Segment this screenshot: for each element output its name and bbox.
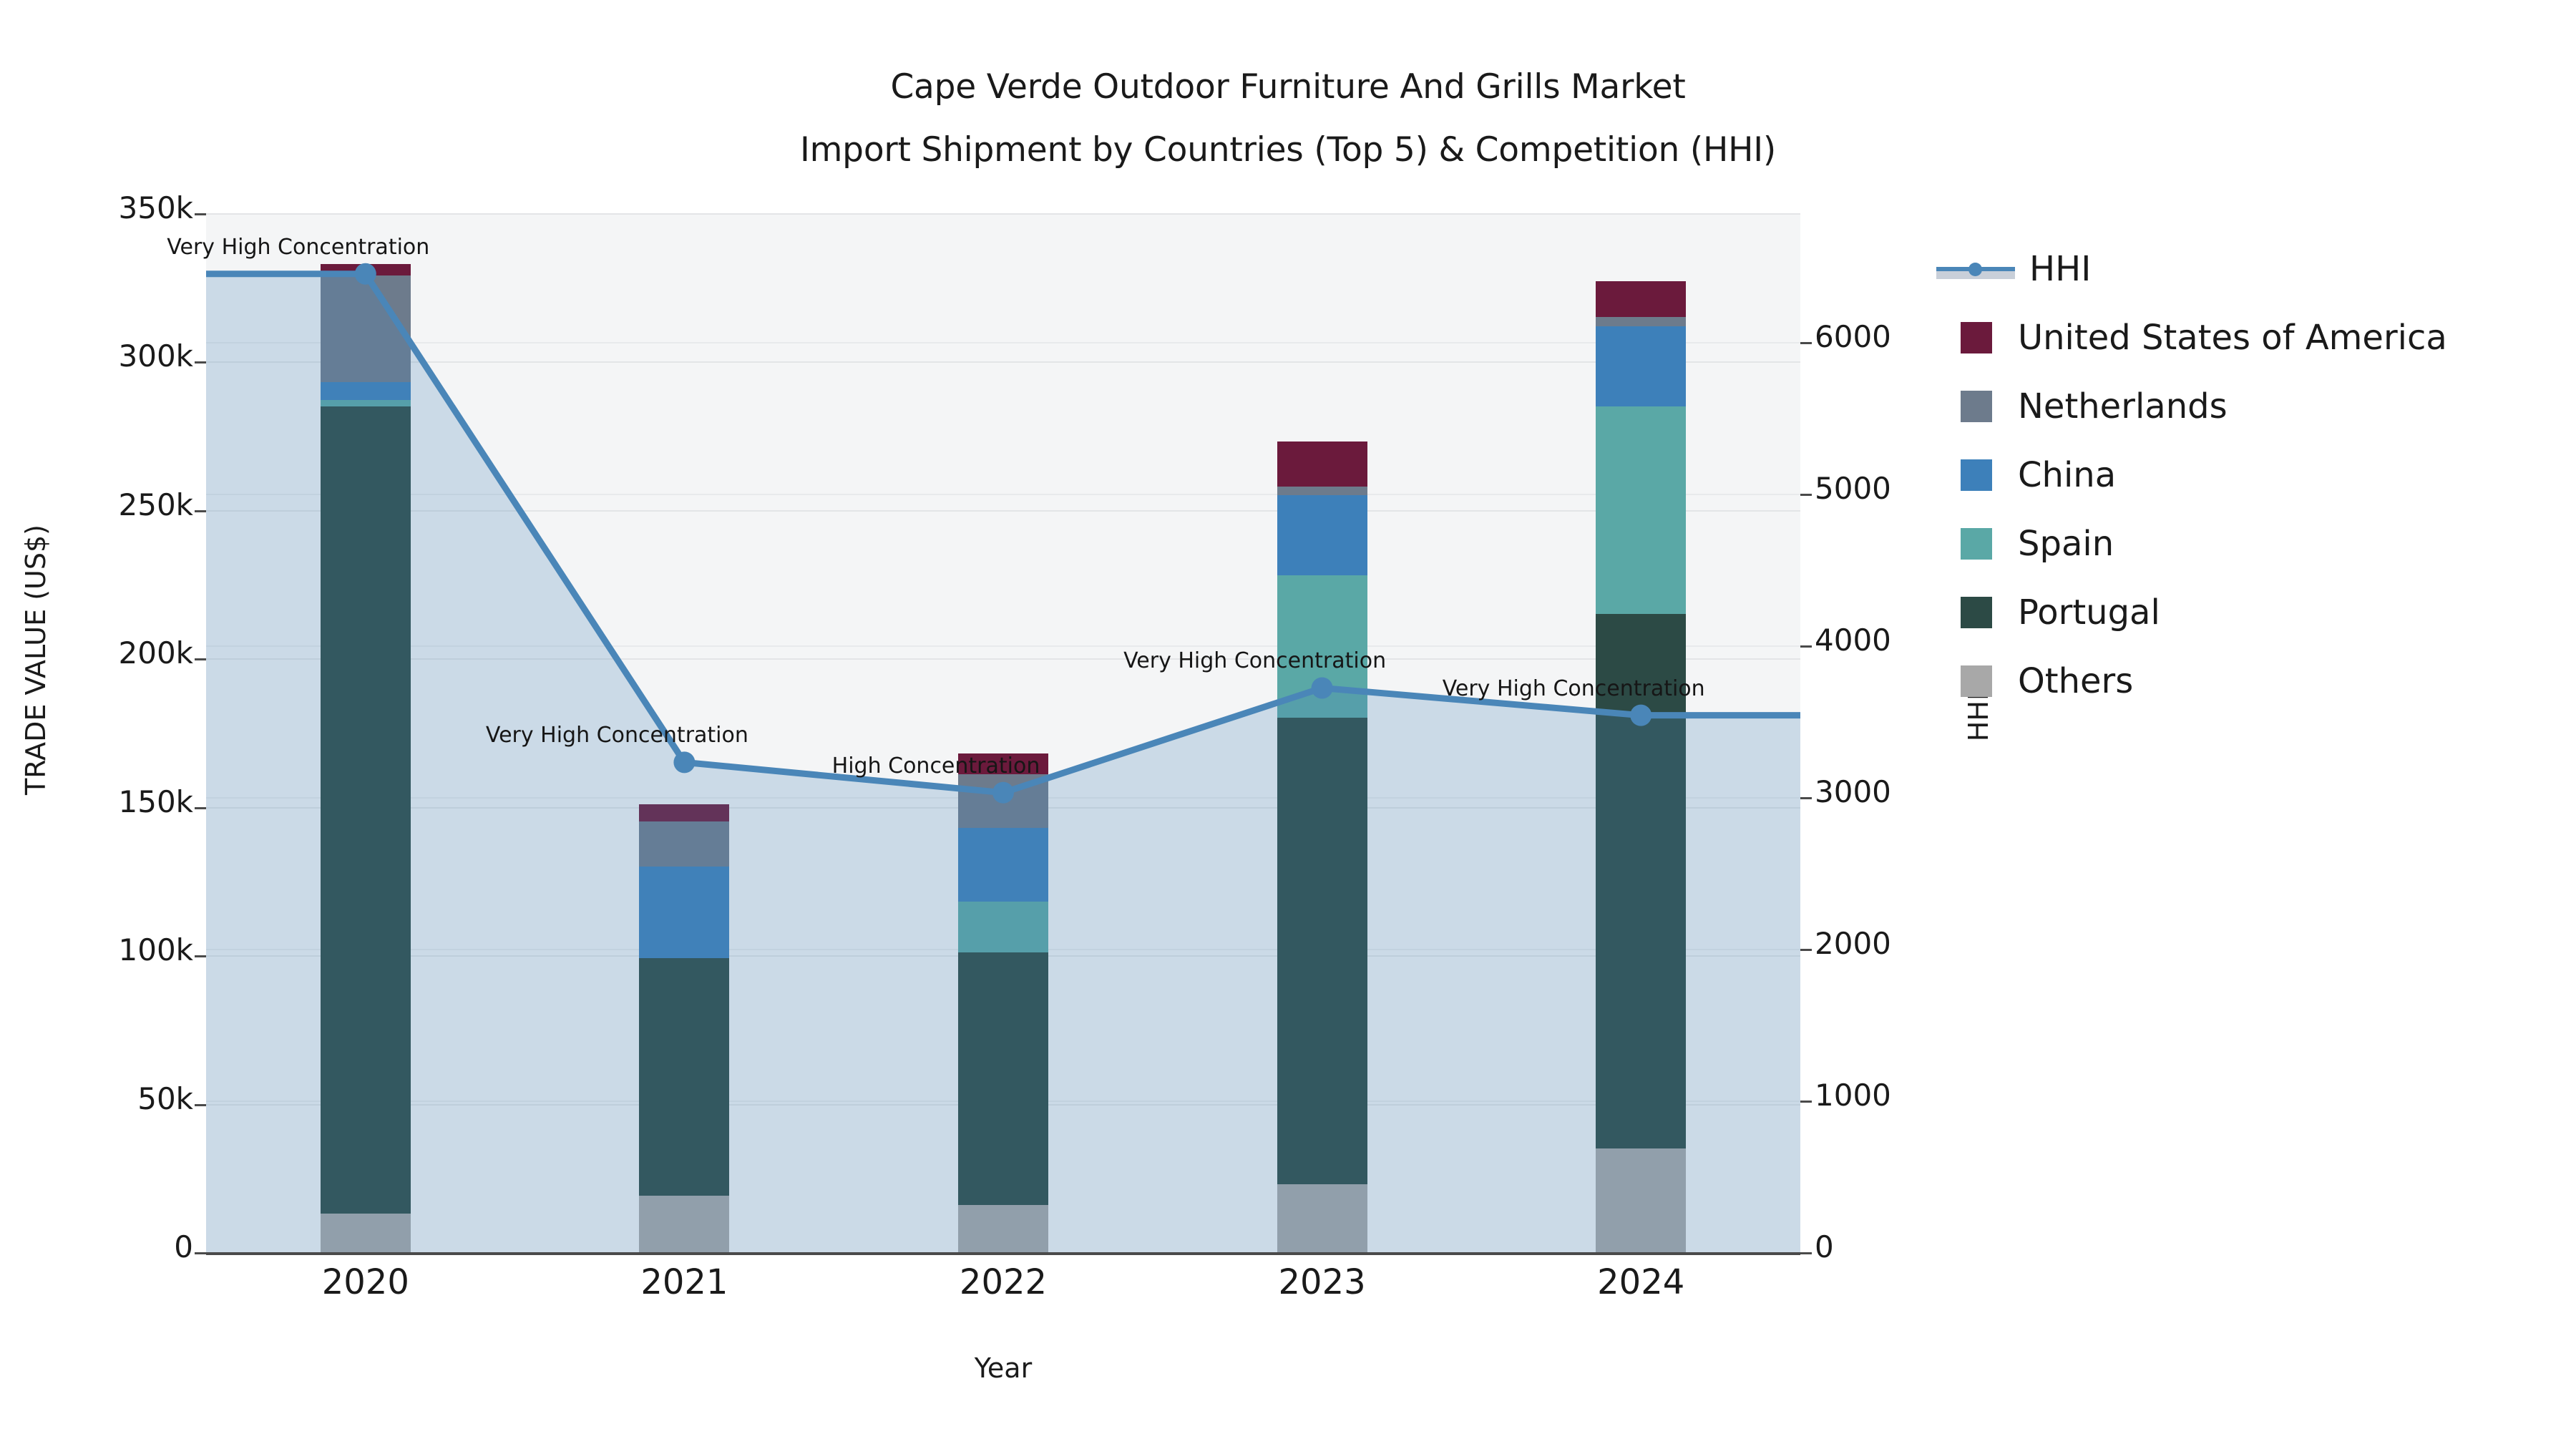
- legend-color-swatch-icon: [1961, 459, 1992, 491]
- y-axis-left-tick-mark: [195, 1252, 206, 1254]
- y-axis-right-tick-label: 6000: [1815, 322, 1972, 352]
- x-axis-tick-label: 2024: [1533, 1265, 1748, 1299]
- chart-title: Cape Verde Outdoor Furniture And Grills …: [0, 56, 2576, 182]
- y-axis-left-tick-mark: [195, 807, 206, 809]
- legend-item-label: Spain: [2018, 527, 2114, 561]
- legend-item[interactable]: Others: [1961, 647, 2533, 716]
- hhi-marker[interactable]: [1630, 705, 1652, 726]
- legend-item-label: China: [2018, 458, 2116, 492]
- legend-item[interactable]: China: [1961, 441, 2533, 509]
- y-axis-right-tick-mark: [1800, 494, 1812, 496]
- legend-item-label: Others: [2018, 664, 2133, 698]
- y-axis-left-tick-mark: [195, 510, 206, 512]
- y-axis-right-tick-mark: [1800, 1101, 1812, 1103]
- y-axis-left-tick-label: 300k: [0, 341, 193, 371]
- concentration-label: Very High Concentration: [1443, 678, 1705, 700]
- legend-item-label: United States of America: [2018, 321, 2447, 355]
- y-axis-right-tick-mark: [1800, 342, 1812, 344]
- legend-item[interactable]: United States of America: [1961, 303, 2533, 372]
- legend-item[interactable]: Spain: [1961, 509, 2533, 578]
- y-axis-right-tick-mark: [1800, 949, 1812, 951]
- x-axis-tick-label: 2021: [577, 1265, 791, 1299]
- y-axis-right-tick-label: 2000: [1815, 929, 1972, 959]
- x-axis-label: Year: [206, 1352, 1800, 1384]
- chart-figure: Cape Verde Outdoor Furniture And Grills …: [0, 0, 2576, 1449]
- chart-title-line-2: Import Shipment by Countries (Top 5) & C…: [0, 119, 2576, 182]
- y-axis-left-tick-mark: [195, 1104, 206, 1106]
- legend-item-label: Netherlands: [2018, 389, 2228, 424]
- x-axis-tick-label: 2023: [1215, 1265, 1430, 1299]
- hhi-marker[interactable]: [992, 782, 1014, 804]
- legend-color-swatch-icon: [1961, 391, 1992, 422]
- y-axis-left-tick-label: 100k: [0, 935, 193, 965]
- y-axis-left-tick-label: 50k: [0, 1084, 193, 1114]
- legend-marker-dot-icon: [1968, 263, 1982, 276]
- y-axis-right-tick-mark: [1800, 645, 1812, 648]
- y-axis-right-tick-mark: [1800, 797, 1812, 799]
- concentration-label: Very High Concentration: [486, 725, 748, 746]
- y-axis-left-tick-mark: [195, 955, 206, 957]
- y-axis-right-tick-label: 4000: [1815, 625, 1972, 655]
- y-axis-left-label: TRADE VALUE (US$): [20, 409, 52, 910]
- y-axis-left-tick-mark: [195, 658, 206, 660]
- chart-title-line-1: Cape Verde Outdoor Furniture And Grills …: [0, 56, 2576, 119]
- y-axis-left-tick-label: 350k: [0, 193, 193, 223]
- hhi-marker[interactable]: [1312, 677, 1333, 698]
- concentration-label: Very High Concentration: [167, 237, 429, 258]
- legend-item-label: HHI: [2029, 252, 2091, 286]
- hhi-line-series: [206, 213, 1800, 1252]
- legend-item[interactable]: Portugal: [1961, 578, 2533, 647]
- y-axis-left-tick-mark: [195, 361, 206, 364]
- y-axis-right-tick-label: 5000: [1815, 474, 1972, 504]
- x-axis-line: [206, 1252, 1800, 1255]
- y-axis-left-tick-mark: [195, 213, 206, 215]
- legend-item[interactable]: HHI: [1961, 235, 2533, 303]
- legend-color-swatch-icon: [1961, 528, 1992, 560]
- plot-area: [206, 213, 1800, 1252]
- legend-color-swatch-icon: [1961, 322, 1992, 353]
- plot-clip: [206, 213, 1800, 1252]
- hhi-marker[interactable]: [673, 751, 695, 773]
- legend-color-swatch-icon: [1961, 597, 1992, 628]
- legend-item-label: Portugal: [2018, 595, 2160, 630]
- y-axis-right-tick-label: 1000: [1815, 1080, 1972, 1111]
- y-axis-right-tick-label: 0: [1815, 1232, 1972, 1262]
- y-axis-right-tick-label: 3000: [1815, 777, 1972, 807]
- chart-legend: HHIUnited States of AmericaNetherlandsCh…: [1961, 235, 2533, 716]
- concentration-label: High Concentration: [832, 756, 1040, 777]
- x-axis-tick-label: 2020: [258, 1265, 473, 1299]
- legend-line-swatch-icon: [1936, 253, 2015, 285]
- concentration-label: Very High Concentration: [1123, 650, 1386, 672]
- legend-color-swatch-icon: [1961, 665, 1992, 697]
- legend-item[interactable]: Netherlands: [1961, 372, 2533, 441]
- y-axis-left-tick-label: 0: [0, 1232, 193, 1262]
- hhi-marker[interactable]: [355, 263, 376, 285]
- y-axis-right-tick-mark: [1800, 1252, 1812, 1254]
- x-axis-tick-label: 2022: [896, 1265, 1111, 1299]
